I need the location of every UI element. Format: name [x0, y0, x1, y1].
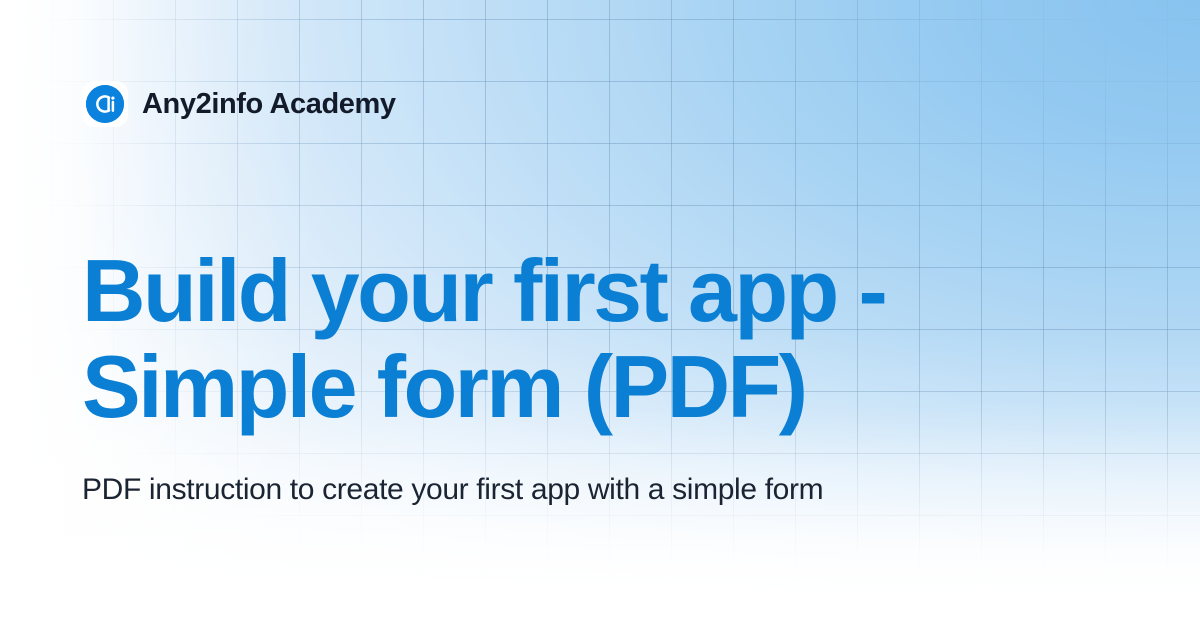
page-subtitle: PDF instruction to create your first app…	[82, 468, 882, 512]
brand-name: Any2info Academy	[142, 90, 396, 119]
social-card: Any2info Academy Build your first app - …	[0, 0, 1200, 630]
brand-lockup: Any2info Academy	[82, 81, 396, 127]
card-content: Any2info Academy Build your first app - …	[0, 0, 1200, 630]
any2info-ai-monogram-icon	[86, 85, 124, 123]
page-title: Build your first app - Simple form (PDF)	[82, 243, 1092, 435]
logo-badge	[82, 81, 128, 127]
